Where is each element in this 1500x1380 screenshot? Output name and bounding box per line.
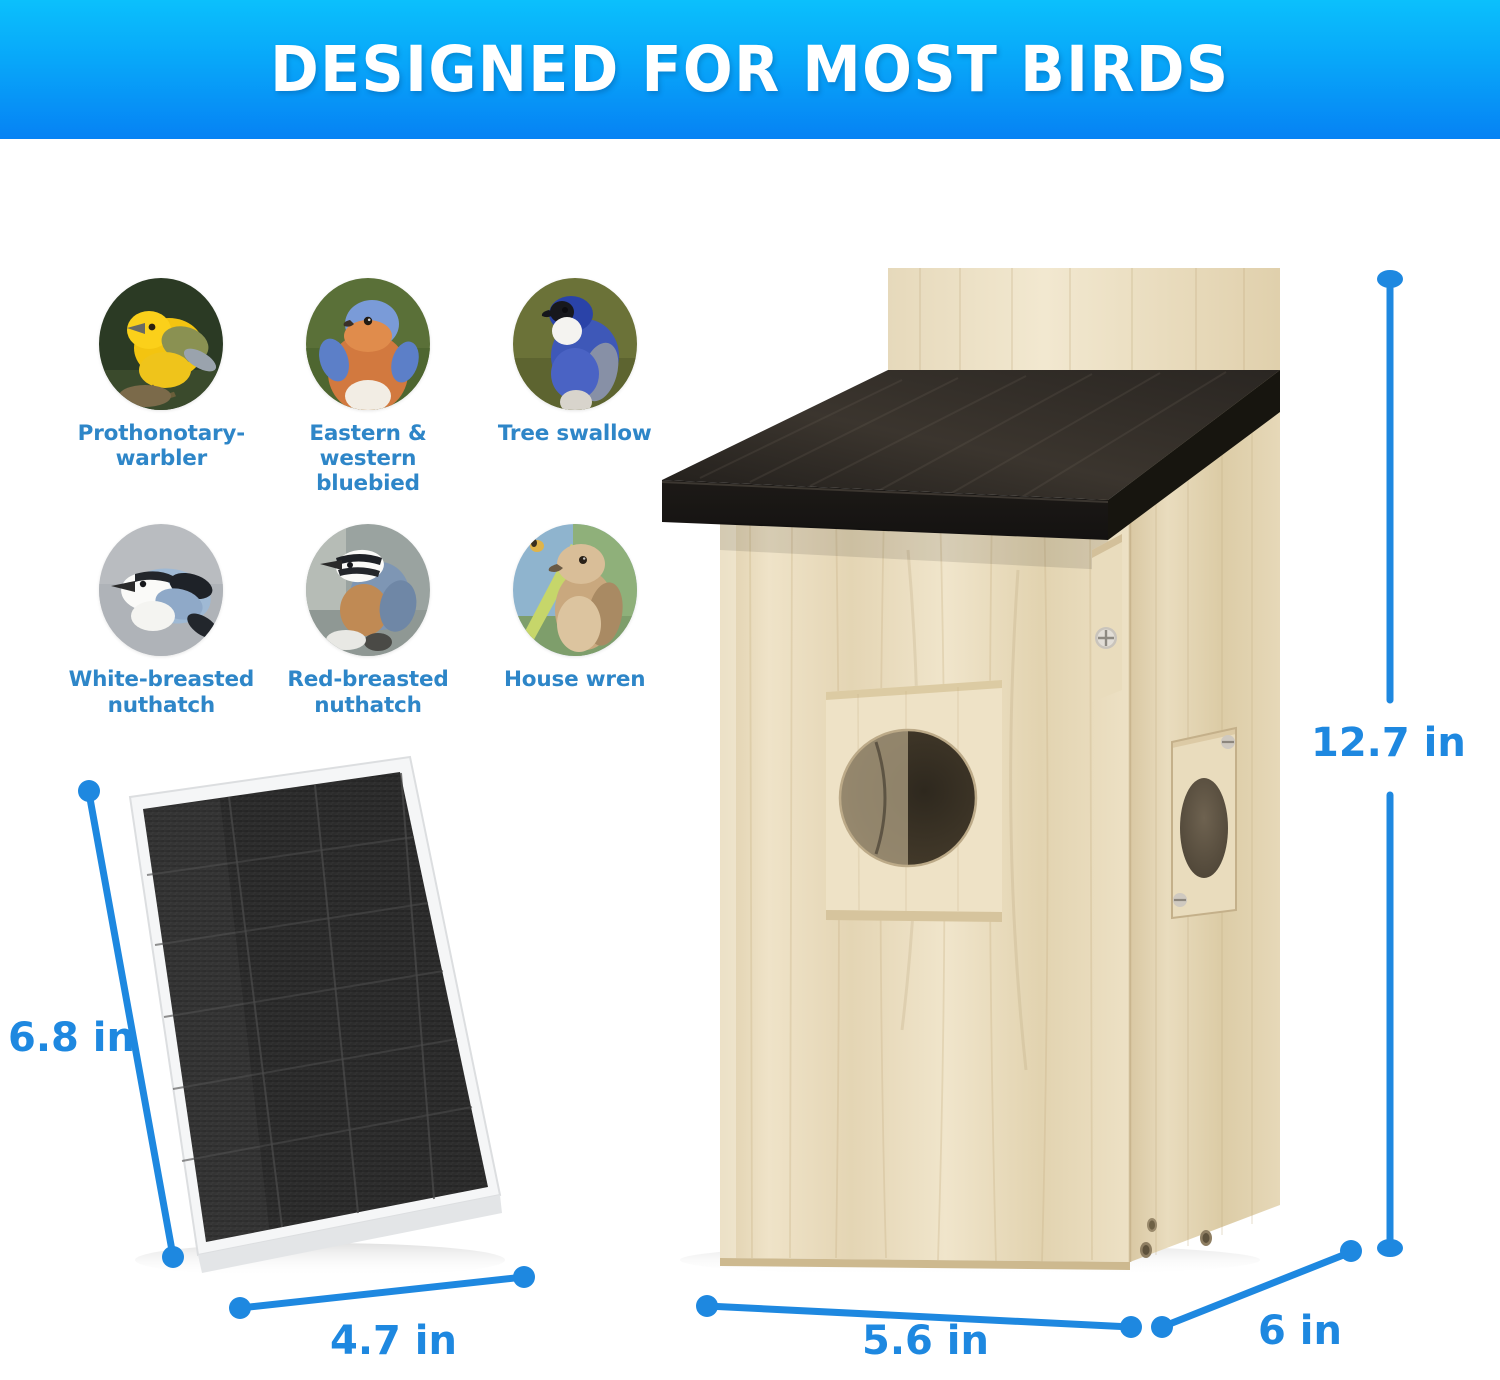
bird-species-grid: Prothonotary-warbler [58, 278, 678, 718]
bird-species-label: Red-breasted nuthatch [265, 667, 470, 717]
bird-species-label: Prothonotary-warbler [59, 421, 264, 471]
bird-species-item: Red-breasted nuthatch [265, 524, 472, 717]
dimension-label-height: 12.7 in [1311, 720, 1466, 766]
red-breasted-nuthatch-photo [306, 524, 430, 656]
wooden-birdhouse [640, 250, 1360, 1280]
header-banner: DESIGNED FOR MOST BIRDS [0, 0, 1500, 139]
dimension-label-width: 5.6 in [862, 1318, 989, 1364]
bird-species-item: Eastern & western bluebied [265, 278, 472, 496]
bird-species-item: White-breasted nuthatch [58, 524, 265, 717]
solar-panel [110, 755, 580, 1285]
banner-title: DESIGNED FOR MOST BIRDS [270, 33, 1229, 106]
dimension-label-panel-height: 6.8 in [8, 1015, 135, 1061]
side-camera-hole [1180, 778, 1228, 878]
side-camera-plate [1172, 728, 1236, 918]
bird-species-label: Tree swallow [498, 421, 652, 446]
bird-species-label: House wren [504, 667, 645, 692]
eastern-western-bluebird-photo [306, 278, 430, 410]
dimension-label-depth: 6 in [1258, 1308, 1342, 1354]
tree-swallow-photo [513, 278, 637, 410]
bird-species-label: Eastern & western bluebied [265, 421, 470, 496]
house-wren-photo [513, 524, 637, 656]
bird-species-label: White-breasted nuthatch [59, 667, 264, 717]
bird-species-item: Prothonotary-warbler [58, 278, 265, 496]
dimension-label-panel-width: 4.7 in [330, 1318, 457, 1364]
entrance-hole-plate [826, 680, 1002, 922]
white-breasted-nuthatch-photo [99, 524, 223, 656]
prothonotary-warbler-photo [99, 278, 223, 410]
